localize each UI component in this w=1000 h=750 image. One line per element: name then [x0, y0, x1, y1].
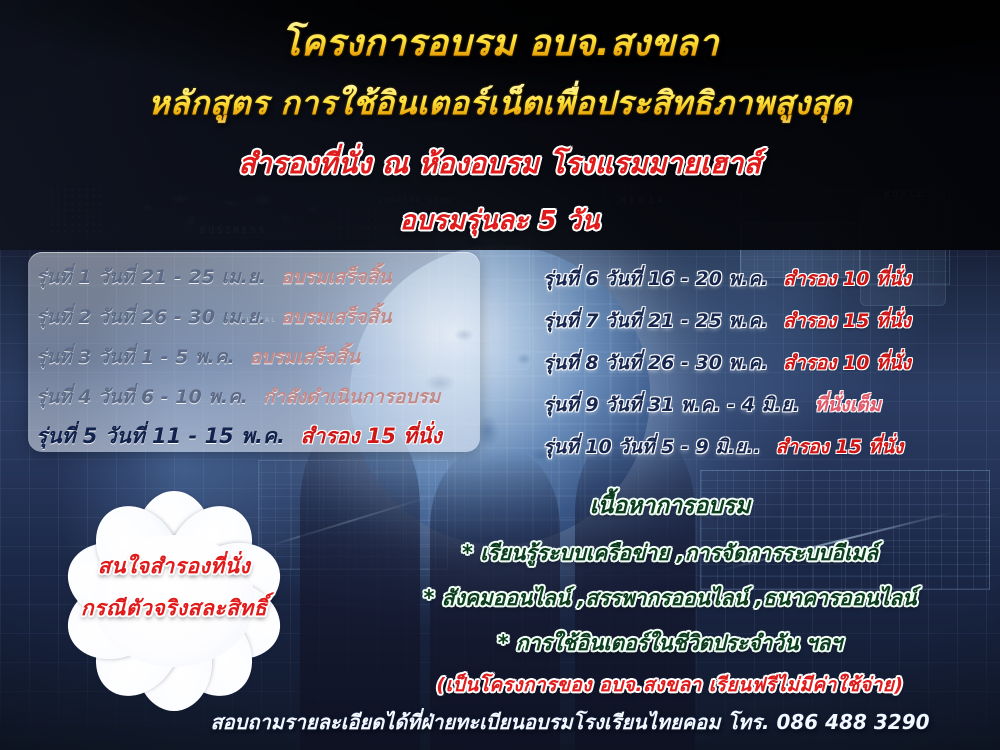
page-subtitle: หลักสูตร การใช้อินเตอร์เน็ตเพื่อประสิทธิ…: [0, 78, 1000, 129]
badge-line-1: สนใจสำรองที่นั่ง: [40, 550, 308, 583]
schedule-label: รุ่นที่ 7 วันที่ 21 - 25 พ.ค.: [543, 310, 768, 332]
schedule-row-9: รุ่นที่ 9 วันที่ 31 พ.ค. - 4 มิ.ย. ที่นั…: [543, 396, 881, 415]
schedule-status: อบรมเสร็จสิ้น: [281, 266, 391, 288]
schedule-label: รุ่นที่ 9 วันที่ 31 พ.ค. - 4 มิ.ย.: [543, 394, 800, 416]
schedule-label: รุ่นที่ 3 วันที่ 1 - 5 พ.ค.: [36, 346, 235, 368]
content-bullet-2: * สังคมออนไลน์ ,สรรพากรออนไลน์ ,ธนาคารออ…: [350, 582, 990, 615]
schedule-status: สำรอง 15 ที่นั่ง: [776, 436, 904, 458]
schedule-status: ที่นั่งเต็ม: [815, 394, 881, 416]
schedule-row-5[interactable]: รุ่นที่ 5 วันที่ 11 - 15 พ.ค. สำรอง 15 ท…: [36, 426, 442, 447]
schedule-row-7[interactable]: รุ่นที่ 7 วันที่ 21 - 25 พ.ค. สำรอง 15 ท…: [543, 312, 911, 331]
content-heading: เนื้อหาการอบรม: [350, 488, 990, 524]
schedule-label: รุ่นที่ 2 วันที่ 26 - 30 เม.ย.: [36, 306, 266, 328]
schedule-row-6[interactable]: รุ่นที่ 6 วันที่ 16 - 20 พ.ค. สำรอง 10 ท…: [543, 270, 911, 289]
schedule-row-10[interactable]: รุ่นที่ 10 วันที่ 5 - 9 มิ.ย.. สำรอง 15 …: [543, 438, 903, 457]
badge-line-2: กรณีตัวจริงสละสิทธิ์: [40, 592, 308, 625]
schedule-label: รุ่นที่ 10 วันที่ 5 - 9 มิ.ย..: [543, 436, 761, 458]
schedule-row-8[interactable]: รุ่นที่ 8 วันที่ 26 - 30 พ.ค. สำรอง 10 ท…: [543, 354, 911, 373]
page-title: โครงการอบรม อบจ.สงขลา: [0, 14, 1000, 71]
schedule-row-4: รุ่นที่ 4 วันที่ 6 - 10 พ.ค. กำลังดำเนิน…: [36, 388, 440, 407]
duration-line: อบรมรุ่นละ 5 วัน: [0, 200, 1000, 241]
venue-line: สำรองที่นั่ง ณ ห้องอบรม โรงแรมมายเฮาส์: [0, 142, 1000, 186]
schedule-status: อบรมเสร็จสิ้น: [281, 306, 391, 328]
flower-badge[interactable]: สนใจสำรองที่นั่ง กรณีตัวจริงสละสิทธิ์: [40, 492, 308, 710]
schedule-row-3: รุ่นที่ 3 วันที่ 1 - 5 พ.ค. อบรมเสร็จสิ้…: [36, 348, 360, 367]
schedule-label: รุ่นที่ 1 วันที่ 21 - 25 เม.ย.: [36, 266, 266, 288]
content-bullet-3: * การใช้อินเตอร์ในชีวิตประจำวัน ฯลฯ: [350, 627, 990, 660]
schedule-status: สำรอง 15 ที่นั่ง: [301, 424, 442, 448]
schedule-status: อบรมเสร็จสิ้น: [250, 346, 360, 368]
schedule-status: สำรอง 15 ที่นั่ง: [783, 310, 911, 332]
schedule-label: รุ่นที่ 5 วันที่ 11 - 15 พ.ค.: [36, 424, 285, 448]
schedule-status: กำลังดำเนินการอบรม: [263, 386, 440, 408]
schedule-label: รุ่นที่ 4 วันที่ 6 - 10 พ.ค.: [36, 386, 248, 408]
content-bullet-1: * เรียนรู้ระบบเครือข่าย ,การจัดการระบบอี…: [350, 537, 990, 570]
contact-line: สอบถามรายละเอียดได้ที่ฝ่ายทะเบียนอบรมโรง…: [150, 706, 990, 738]
content-note: (เป็นโครงการของ อบจ.สงขลา เรียนฟรีไม่มีค…: [350, 670, 990, 700]
schedule-status: สำรอง 10 ที่นั่ง: [783, 352, 911, 374]
schedule-label: รุ่นที่ 6 วันที่ 16 - 20 พ.ค.: [543, 268, 768, 290]
schedule-row-1: รุ่นที่ 1 วันที่ 21 - 25 เม.ย. อบรมเสร็จ…: [36, 268, 391, 287]
poster-root: BUSINESS MEDIA WORLD LOADING 100% GLOBAL…: [0, 0, 1000, 750]
schedule-status: สำรอง 10 ที่นั่ง: [783, 268, 911, 290]
schedule-row-2: รุ่นที่ 2 วันที่ 26 - 30 เม.ย. อบรมเสร็จ…: [36, 308, 391, 327]
schedule-label: รุ่นที่ 8 วันที่ 26 - 30 พ.ค.: [543, 352, 768, 374]
